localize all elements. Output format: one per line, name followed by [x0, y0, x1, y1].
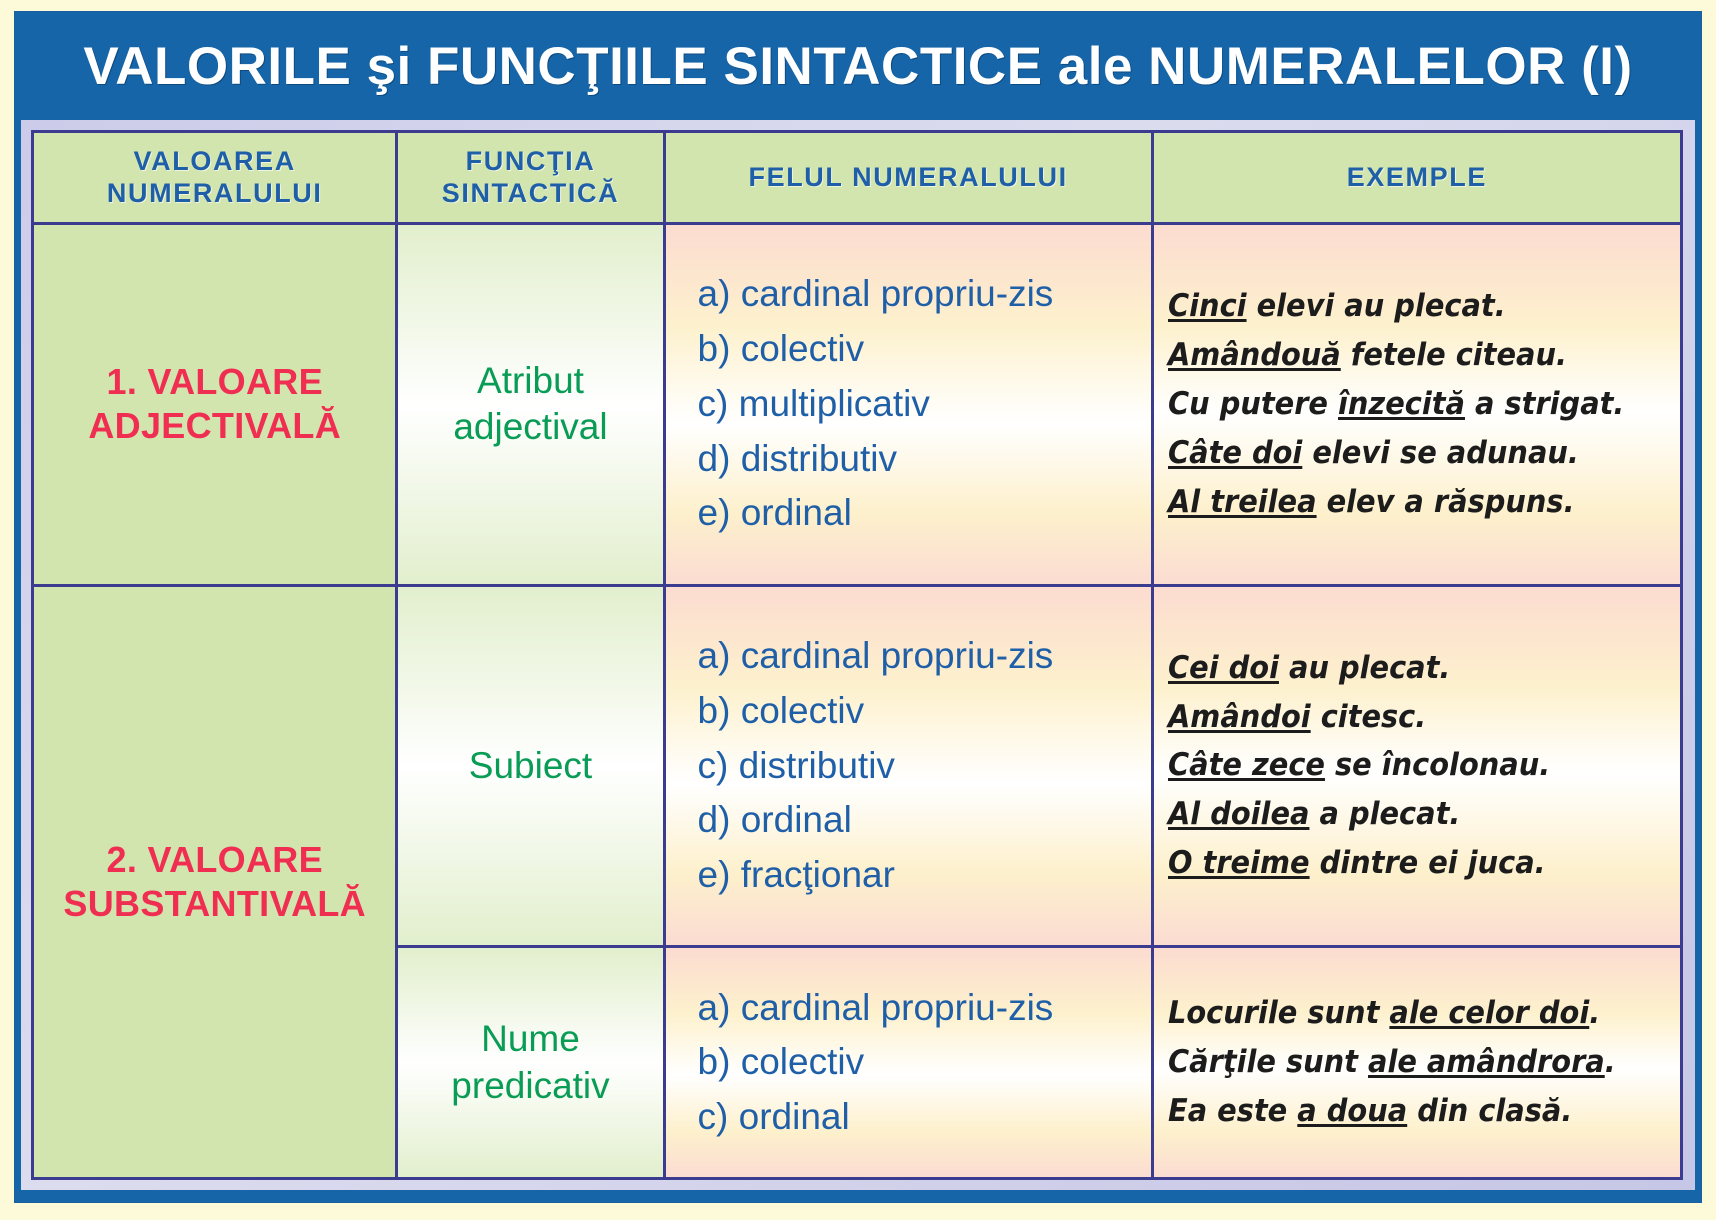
header-line: FUNCŢIA: [398, 146, 662, 177]
kind-item: b) colectiv: [698, 684, 1151, 739]
example-post: citesc.: [1310, 699, 1426, 735]
example-pre: Locurile sunt: [1168, 995, 1389, 1031]
example-emphasis: Câte zece: [1168, 747, 1325, 783]
example-post: elev a răspuns.: [1316, 484, 1574, 520]
example-emphasis: O treime: [1168, 845, 1310, 881]
example-item: Amândouă fetele citeau.: [1168, 331, 1639, 380]
header-line: FELUL NUMERALULUI: [666, 162, 1151, 193]
kinds-cell-nume-predicativ: a) cardinal propriu-zis b) colectiv c) o…: [664, 947, 1152, 1179]
examples-cell-nume-predicativ: Locurile sunt ale celor doi. Cărţile sun…: [1152, 947, 1681, 1179]
example-item: Al doilea a plecat.: [1168, 790, 1639, 839]
kind-item: a) cardinal propriu-zis: [698, 629, 1151, 684]
header-valoarea-numeralului: VALOAREA NUMERALULUI: [33, 132, 397, 224]
example-emphasis: Cinci: [1168, 288, 1247, 324]
header-line: SINTACTICĂ: [398, 178, 662, 209]
example-post: a plecat.: [1309, 796, 1460, 832]
example-item: Cu putere înzecită a strigat.: [1168, 380, 1639, 429]
examples-cell-atribut-adjectival: Cinci elevi au plecat. Amândouă fetele c…: [1152, 224, 1681, 586]
title-band: VALORILE şi FUNCŢIILE SINTACTICE ale NUM…: [15, 12, 1701, 120]
function-cell-nume-predicativ: Nume predicativ: [397, 947, 664, 1179]
example-post: elevi au plecat.: [1246, 288, 1505, 324]
example-emphasis: Al doilea: [1168, 796, 1309, 832]
kind-item: a) cardinal propriu-zis: [698, 981, 1151, 1036]
kind-item: e) ordinal: [698, 486, 1151, 541]
numerals-table: VALOAREA NUMERALULUI FUNCŢIA SINTACTICĂ …: [31, 130, 1683, 1180]
table-row: 1. VALOARE ADJECTIVALĂ Atribut adjectiva…: [33, 224, 1682, 586]
example-post: .: [1604, 1044, 1615, 1080]
kind-item: a) cardinal propriu-zis: [698, 267, 1151, 322]
value-line: SUBSTANTIVALĂ: [34, 882, 395, 926]
example-item: Amândoi citesc.: [1168, 693, 1639, 742]
value-line: ADJECTIVALĂ: [34, 404, 395, 448]
kind-item: d) distributiv: [698, 432, 1151, 487]
example-item: Câte doi elevi se adunau.: [1168, 429, 1639, 478]
kind-item: b) colectiv: [698, 322, 1151, 377]
value-cell-substantivala: 2. VALOARE SUBSTANTIVALĂ: [33, 585, 397, 1178]
example-post: a strigat.: [1465, 386, 1624, 422]
example-post: se încolonau.: [1325, 747, 1550, 783]
example-post: din clasă.: [1407, 1093, 1572, 1129]
example-emphasis: a doua: [1297, 1093, 1407, 1129]
example-item: Locurile sunt ale celor doi.: [1168, 989, 1639, 1038]
value-line: 1. VALOARE: [34, 360, 395, 404]
poster-root: VALORILE şi FUNCŢIILE SINTACTICE ale NUM…: [0, 0, 1716, 1220]
example-post: dintre ei juca.: [1309, 845, 1545, 881]
function-cell-atribut-adjectival: Atribut adjectival: [397, 224, 664, 586]
outer-frame: VALORILE şi FUNCŢIILE SINTACTICE ale NUM…: [14, 11, 1702, 1203]
header-line: NUMERALULUI: [34, 178, 395, 209]
header-exemple: EXEMPLE: [1152, 132, 1681, 224]
example-emphasis: Cei doi: [1168, 650, 1279, 686]
example-emphasis: ale celor doi: [1389, 995, 1589, 1031]
kind-item: e) fracţionar: [698, 848, 1151, 903]
function-line: predicativ: [398, 1063, 662, 1109]
function-cell-subiect: Subiect: [397, 585, 664, 947]
kinds-cell-atribut-adjectival: a) cardinal propriu-zis b) colectiv c) m…: [664, 224, 1152, 586]
example-pre: Ea este: [1168, 1093, 1297, 1129]
table-row: 2. VALOARE SUBSTANTIVALĂ Subiect a) card…: [33, 585, 1682, 947]
table-header-row: VALOAREA NUMERALULUI FUNCŢIA SINTACTICĂ …: [33, 132, 1682, 224]
example-item: Al treilea elev a răspuns.: [1168, 478, 1639, 527]
example-pre: Cu putere: [1168, 386, 1338, 422]
example-emphasis: Câte doi: [1168, 435, 1302, 471]
example-pre: Cărţile sunt: [1168, 1044, 1368, 1080]
page-title: VALORILE şi FUNCŢIILE SINTACTICE ale NUM…: [83, 36, 1632, 97]
example-item: Cărţile sunt ale amândrora.: [1168, 1038, 1639, 1087]
header-felul-numeralului: FELUL NUMERALULUI: [664, 132, 1152, 224]
example-post: elevi se adunau.: [1302, 435, 1579, 471]
example-item: Cei doi au plecat.: [1168, 644, 1639, 693]
example-item: Cinci elevi au plecat.: [1168, 282, 1639, 331]
value-line: 2. VALOARE: [34, 838, 395, 882]
example-emphasis: Amândouă: [1168, 337, 1341, 373]
examples-cell-subiect: Cei doi au plecat. Amândoi citesc. Câte …: [1152, 585, 1681, 947]
header-functia-sintactica: FUNCŢIA SINTACTICĂ: [397, 132, 664, 224]
kind-item: c) distributiv: [698, 739, 1151, 794]
header-line: EXEMPLE: [1154, 162, 1680, 193]
kinds-cell-subiect: a) cardinal propriu-zis b) colectiv c) d…: [664, 585, 1152, 947]
example-emphasis: Amândoi: [1168, 699, 1311, 735]
kind-item: c) multiplicativ: [698, 377, 1151, 432]
example-emphasis: ale amândrora: [1368, 1044, 1605, 1080]
function-line: Subiect: [398, 743, 662, 789]
example-item: Câte zece se încolonau.: [1168, 741, 1639, 790]
kind-item: b) colectiv: [698, 1035, 1151, 1090]
function-line: Atribut: [398, 358, 662, 404]
example-item: Ea este a doua din clasă.: [1168, 1087, 1639, 1136]
function-line: Nume: [398, 1016, 662, 1062]
function-line: adjectival: [398, 404, 662, 450]
kind-item: c) ordinal: [698, 1090, 1151, 1145]
example-post: au plecat.: [1279, 650, 1450, 686]
value-cell-adjectivala: 1. VALOARE ADJECTIVALĂ: [33, 224, 397, 586]
kind-item: d) ordinal: [698, 793, 1151, 848]
example-post: fetele citeau.: [1340, 337, 1566, 373]
header-line: VALOAREA: [34, 146, 395, 177]
example-post: .: [1589, 995, 1600, 1031]
inner-plate: VALOAREA NUMERALULUI FUNCŢIA SINTACTICĂ …: [21, 120, 1695, 1190]
example-item: O treime dintre ei juca.: [1168, 839, 1639, 888]
example-emphasis: înzecită: [1338, 386, 1465, 422]
example-emphasis: Al treilea: [1168, 484, 1317, 520]
